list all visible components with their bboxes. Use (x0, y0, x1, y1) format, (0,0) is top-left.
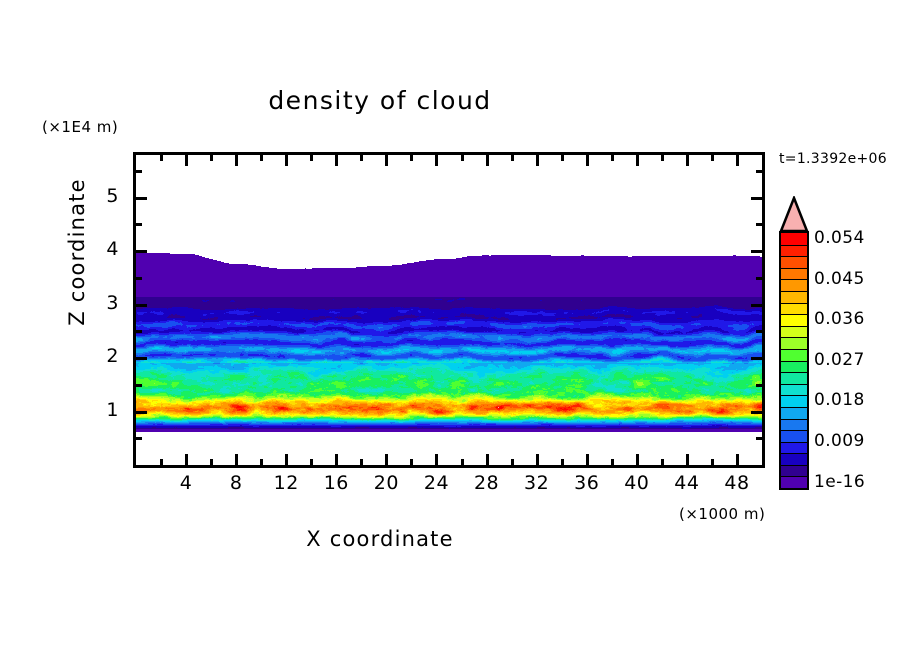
time-annotation: t=1.3392e+06 (779, 151, 887, 167)
x-tick-minor (561, 459, 564, 465)
x-tick-minor-top (711, 155, 714, 161)
colorbar-band (781, 245, 807, 257)
x-tick-major-top (586, 155, 589, 166)
x-tick-major (435, 454, 438, 465)
colorbar-band (781, 256, 807, 268)
colorbar-band (781, 233, 807, 245)
y-tick-label: 2 (93, 345, 119, 367)
colorbar-band (781, 442, 807, 454)
x-tick-major (486, 454, 489, 465)
x-tick-major-top (486, 155, 489, 166)
colorbar-band (781, 303, 807, 315)
x-tick-minor-top (310, 155, 313, 161)
x-tick-major (385, 454, 388, 465)
x-tick-minor (310, 459, 313, 465)
y-tick-minor-right (756, 437, 762, 440)
x-tick-label: 16 (316, 472, 356, 494)
y-tick-major (136, 250, 147, 253)
colorbar-band (781, 279, 807, 291)
x-tick-minor (461, 459, 464, 465)
colorbar-band (781, 465, 807, 477)
y-tick-minor (136, 384, 142, 387)
x-tick-major (636, 454, 639, 465)
x-tick-label: 4 (166, 472, 206, 494)
x-tick-minor-top (661, 155, 664, 161)
y-tick-minor-right (756, 330, 762, 333)
y-tick-minor (136, 170, 142, 173)
x-axis-title: X coordinate (0, 527, 760, 551)
x-tick-major (536, 454, 539, 465)
x-tick-minor (511, 459, 514, 465)
x-tick-major (335, 454, 338, 465)
y-tick-major-right (751, 250, 762, 253)
colorbar-tick-label: 0.009 (814, 431, 865, 451)
x-tick-label: 12 (266, 472, 306, 494)
y-axis-title: Z coordinate (65, 152, 89, 352)
y-tick-major (136, 411, 147, 414)
colorbar-band (781, 419, 807, 431)
colorbar-band (781, 268, 807, 280)
y-tick-major (136, 304, 147, 307)
x-tick-major-top (285, 155, 288, 166)
x-tick-minor-top (511, 155, 514, 161)
x-tick-minor-top (561, 155, 564, 161)
colorbar-band (781, 395, 807, 407)
x-tick-major (185, 454, 188, 465)
x-tick-major-top (736, 155, 739, 166)
y-tick-minor (136, 330, 142, 333)
x-tick-minor-top (160, 155, 163, 161)
y-tick-major-right (751, 197, 762, 200)
x-tick-major (235, 454, 238, 465)
x-tick-minor (210, 459, 213, 465)
x-tick-major-top (536, 155, 539, 166)
x-tick-minor (711, 459, 714, 465)
x-tick-minor (611, 459, 614, 465)
colorbar-tick-label: 0.036 (814, 309, 865, 329)
x-tick-minor (160, 459, 163, 465)
x-tick-label: 48 (717, 472, 757, 494)
plot-area (133, 152, 765, 468)
colorbar-bands (779, 231, 809, 490)
x-tick-major-top (335, 155, 338, 166)
y-tick-minor-right (756, 277, 762, 280)
x-tick-minor (360, 459, 363, 465)
colorbar-band (781, 372, 807, 384)
x-tick-major-top (435, 155, 438, 166)
y-tick-major-right (751, 357, 762, 360)
x-tick-major (686, 454, 689, 465)
x-axis-unit-label: (×1000 m) (679, 505, 765, 523)
x-tick-major (285, 454, 288, 465)
colorbar-over-arrow-icon (779, 196, 809, 232)
colorbar-band (781, 476, 807, 488)
y-tick-minor-right (756, 223, 762, 226)
y-tick-major-right (751, 304, 762, 307)
y-tick-minor (136, 277, 142, 280)
x-tick-minor (661, 459, 664, 465)
x-tick-label: 24 (416, 472, 456, 494)
colorbar-band (781, 326, 807, 338)
x-tick-label: 8 (216, 472, 256, 494)
x-tick-minor-top (260, 155, 263, 161)
colorbar-band (781, 430, 807, 442)
x-tick-major (736, 454, 739, 465)
y-tick-minor-right (756, 384, 762, 387)
y-tick-label: 1 (93, 399, 119, 421)
y-tick-major-right (751, 411, 762, 414)
x-tick-minor-top (360, 155, 363, 161)
y-tick-minor-right (756, 170, 762, 173)
y-axis-unit-label: (×1E4 m) (42, 118, 118, 136)
x-tick-major-top (686, 155, 689, 166)
y-tick-label: 3 (93, 292, 119, 314)
x-tick-major-top (385, 155, 388, 166)
x-tick-label: 44 (667, 472, 707, 494)
colorbar-band (781, 453, 807, 465)
colorbar-band (781, 314, 807, 326)
colorbar-tick-label: 1e-16 (814, 472, 865, 492)
x-tick-minor-top (210, 155, 213, 161)
colorbar-tick-label: 0.054 (814, 228, 865, 248)
y-tick-minor (136, 223, 142, 226)
x-tick-label: 40 (617, 472, 657, 494)
colorbar-band (781, 384, 807, 396)
colorbar-tick-label: 0.018 (814, 390, 865, 410)
x-tick-label: 36 (567, 472, 607, 494)
y-tick-label: 4 (93, 238, 119, 260)
x-tick-label: 32 (517, 472, 557, 494)
colorbar-band (781, 291, 807, 303)
colorbar-tick-label: 0.027 (814, 350, 865, 370)
x-tick-minor-top (410, 155, 413, 161)
x-tick-minor (260, 459, 263, 465)
density-heatmap (136, 155, 762, 465)
colorbar-band (781, 361, 807, 373)
x-tick-label: 20 (366, 472, 406, 494)
x-tick-minor-top (461, 155, 464, 161)
page-title: density of cloud (0, 86, 760, 115)
x-tick-major (586, 454, 589, 465)
colorbar-band (781, 337, 807, 349)
x-tick-major-top (235, 155, 238, 166)
x-tick-minor (410, 459, 413, 465)
colorbar-band (781, 349, 807, 361)
colorbar-band (781, 407, 807, 419)
x-tick-label: 28 (467, 472, 507, 494)
y-tick-major (136, 357, 147, 360)
x-tick-major-top (185, 155, 188, 166)
colorbar-tick-label: 0.045 (814, 269, 865, 289)
y-tick-minor (136, 437, 142, 440)
y-tick-label: 5 (93, 185, 119, 207)
y-tick-major (136, 197, 147, 200)
x-tick-minor-top (611, 155, 614, 161)
x-tick-major-top (636, 155, 639, 166)
